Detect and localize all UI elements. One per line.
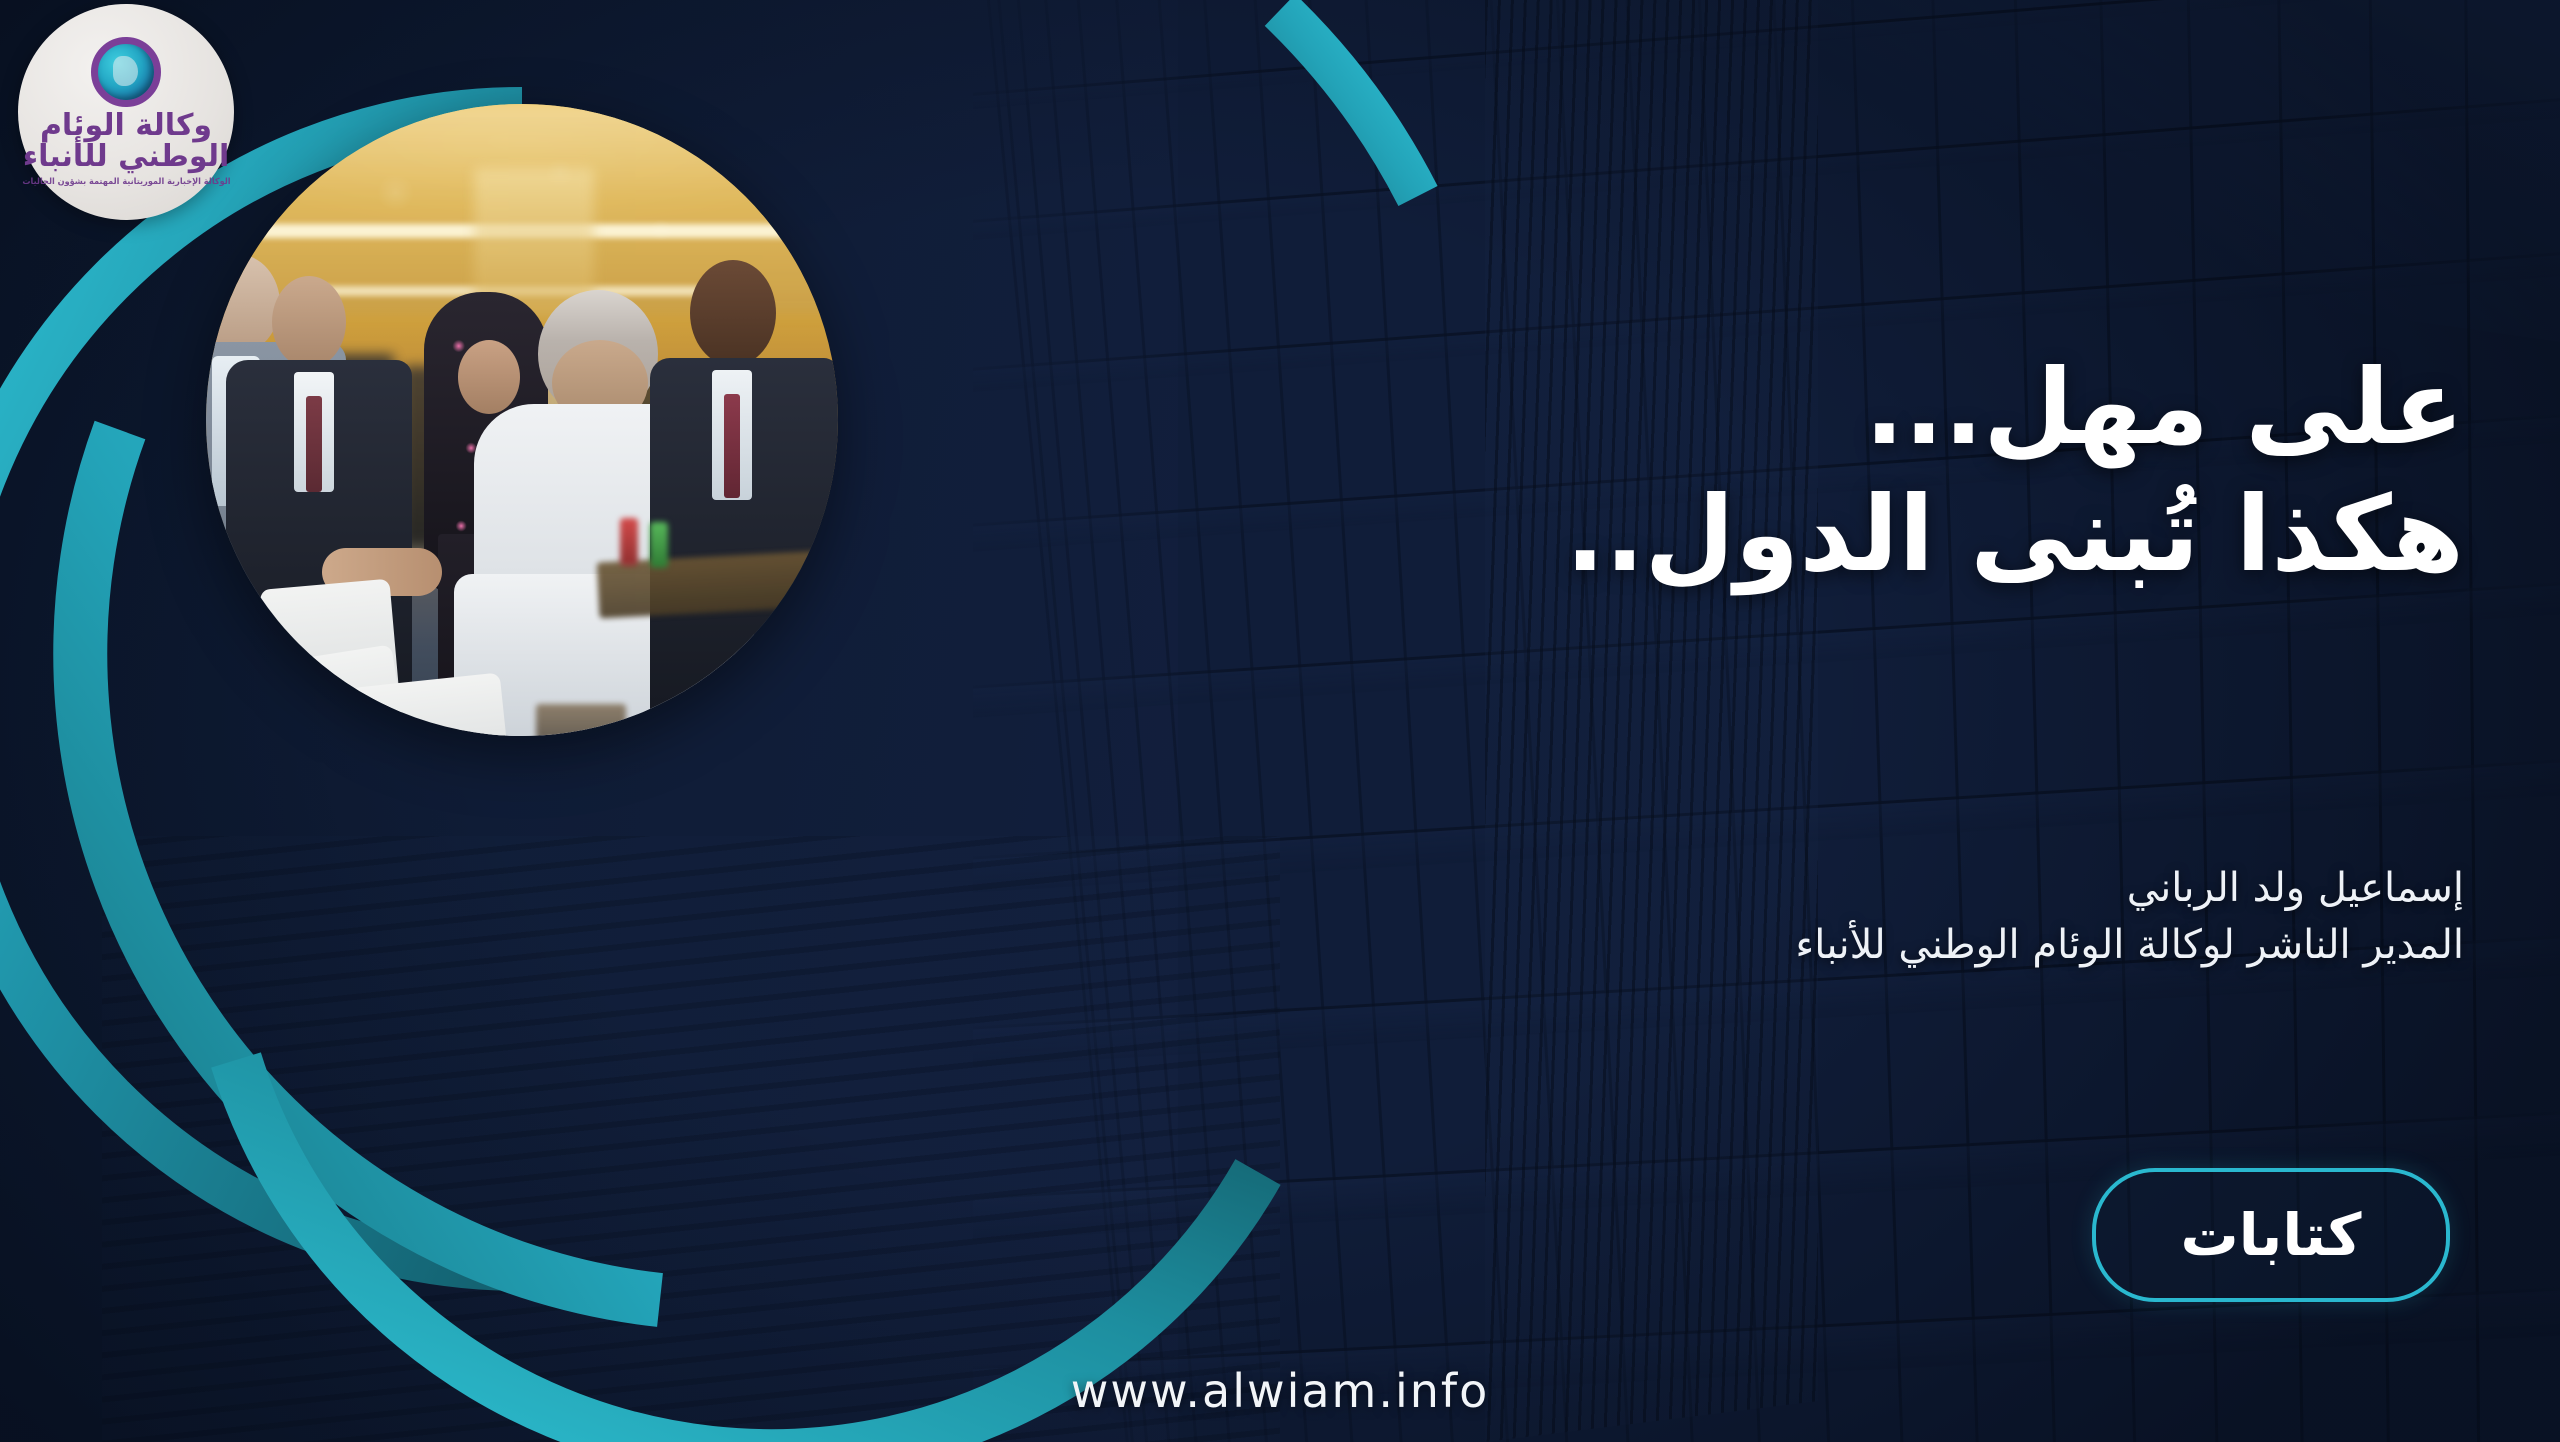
headline: على مهل... هكذا تُبنى الدول.. [1284, 344, 2464, 598]
logo-line-1: وكالة الوئام [40, 111, 212, 142]
byline: إسماعيل ولد الرباني المدير الناشر لوكالة… [1284, 860, 2464, 974]
logo-line-2: الوطني للأنباء [23, 142, 230, 173]
photo-floor-object [536, 704, 626, 736]
photo-person-face [458, 340, 520, 414]
photo-person-tie [306, 396, 322, 492]
agency-logo: وكالة الوئام الوطني للأنباء الوكالة الإخ… [18, 4, 234, 220]
photo-scene [206, 104, 838, 736]
headline-line-1: على مهل... [1284, 344, 2464, 471]
photo-bottle [650, 522, 668, 568]
byline-author: إسماعيل ولد الرباني [2127, 865, 2464, 911]
news-graphic-card: وكالة الوئام الوطني للأنباء الوكالة الإخ… [0, 0, 2560, 1442]
site-url[interactable]: www.alwiam.info [0, 1364, 2560, 1418]
photo-person-head [690, 260, 776, 366]
category-label: كتابات [2180, 1201, 2361, 1269]
photo-person-tie [724, 394, 740, 498]
globe-icon [91, 37, 161, 107]
photo-person-head [272, 276, 346, 368]
category-pill[interactable]: كتابات [2092, 1168, 2450, 1302]
headline-line-2: هكذا تُبنى الدول.. [1284, 471, 2464, 598]
logo-tagline: الوكالة الإخبارية الموريتانية المهتمة بش… [22, 177, 230, 187]
photo-bottle [620, 518, 638, 566]
byline-role: المدير الناشر لوكالة الوئام الوطني للأنب… [1284, 917, 2464, 974]
feature-photo [206, 104, 838, 736]
